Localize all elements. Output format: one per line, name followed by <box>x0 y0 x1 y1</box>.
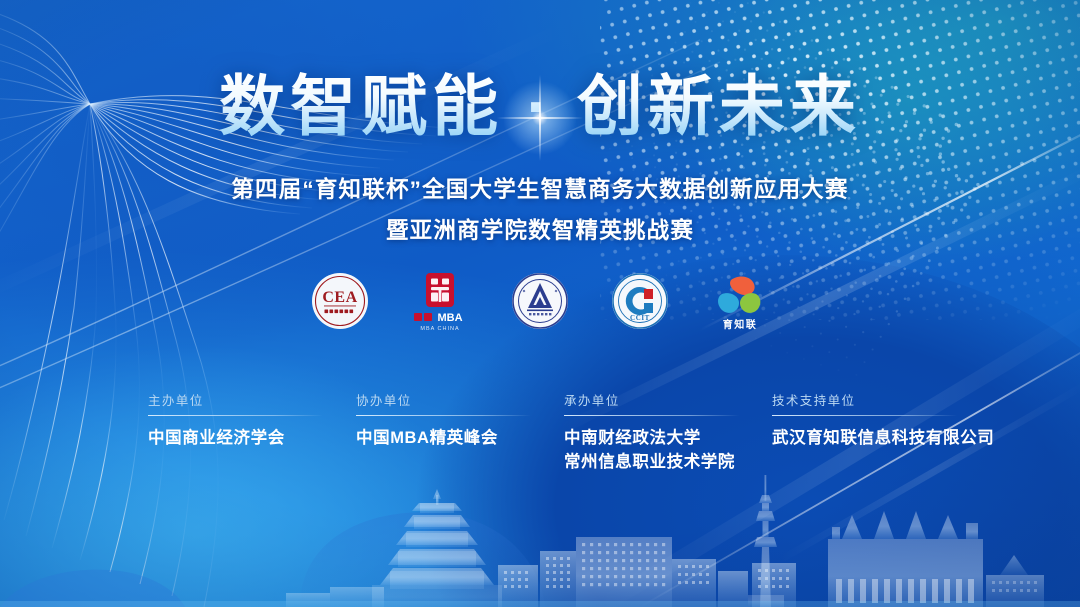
credit-name: 武汉育知联信息科技有限公司 <box>772 427 1012 451</box>
svg-text:育知联: 育知联 <box>723 318 758 331</box>
credit-column-organizer: 主办单位 中国商业经济学会 <box>148 390 356 475</box>
subtitle-line-1: 第四届“育知联杯”全国大学生智慧商务大数据创新应用大赛 <box>0 172 1080 204</box>
subtitle-line-2: 暨亚洲商学院数智精英挑战赛 <box>0 213 1080 245</box>
credit-divider <box>356 415 531 416</box>
yuzhilian-logo: 育知联 <box>708 272 772 342</box>
credit-column-technical-support: 技术支持单位 武汉育知联信息科技有限公司 <box>772 390 1012 475</box>
cea-logo: CEA <box>308 272 372 342</box>
credit-name: 中南财经政法大学 <box>564 427 772 451</box>
poster-title-wrap: 数智赋能 · 创新未来 <box>0 72 1080 141</box>
mba-china-logo: MBA MBA CHINA <box>408 272 472 342</box>
poster-canvas: 数智赋能 · 创新未来 第四届“育知联杯”全国大学生智慧商务大数据创新应用大赛 … <box>0 0 1080 607</box>
cathedral-building <box>828 511 983 607</box>
credit-names: 中国商业经济学会 <box>148 427 356 451</box>
credit-names: 武汉育知联信息科技有限公司 <box>772 427 1012 451</box>
credit-label: 承办单位 <box>564 390 772 409</box>
grid-window-buildings <box>986 555 1044 607</box>
poster-subtitle: 第四届“育知联杯”全国大学生智慧商务大数据创新应用大赛 暨亚洲商学院数智精英挑战… <box>0 172 1080 245</box>
credit-column-host: 承办单位 中南财经政法大学 常州信息职业技术学院 <box>564 390 772 475</box>
svg-text:CEA: CEA <box>322 289 357 306</box>
credit-label: 主办单位 <box>148 390 356 409</box>
credit-column-coorganizer: 协办单位 中国MBA精英峰会 <box>356 390 564 475</box>
svg-text:CCIT: CCIT <box>630 314 650 322</box>
svg-text:MBA CHINA: MBA CHINA <box>420 326 459 332</box>
credit-name: 中国MBA精英峰会 <box>356 427 564 451</box>
credit-name: 中国商业经济学会 <box>148 427 356 451</box>
ccit-logo: CCIT <box>608 272 672 342</box>
svg-text:MBA: MBA <box>437 312 462 324</box>
sponsor-logo-strip: CEA <box>0 272 1080 342</box>
credit-names: 中国MBA精英峰会 <box>356 427 564 451</box>
credit-label: 技术支持单位 <box>772 390 1012 409</box>
credit-divider <box>564 415 739 416</box>
zuel-logo <box>508 272 572 342</box>
credit-label: 协办单位 <box>356 390 564 409</box>
poster-title: 数智赋能 · 创新未来 <box>219 72 861 141</box>
credit-divider <box>148 415 323 416</box>
credit-divider <box>772 415 957 416</box>
credits-row: 主办单位 中国商业经济学会 协办单位 中国MBA精英峰会 承办单位 中南财经政法… <box>148 390 1010 475</box>
city-skyline <box>0 467 1080 607</box>
